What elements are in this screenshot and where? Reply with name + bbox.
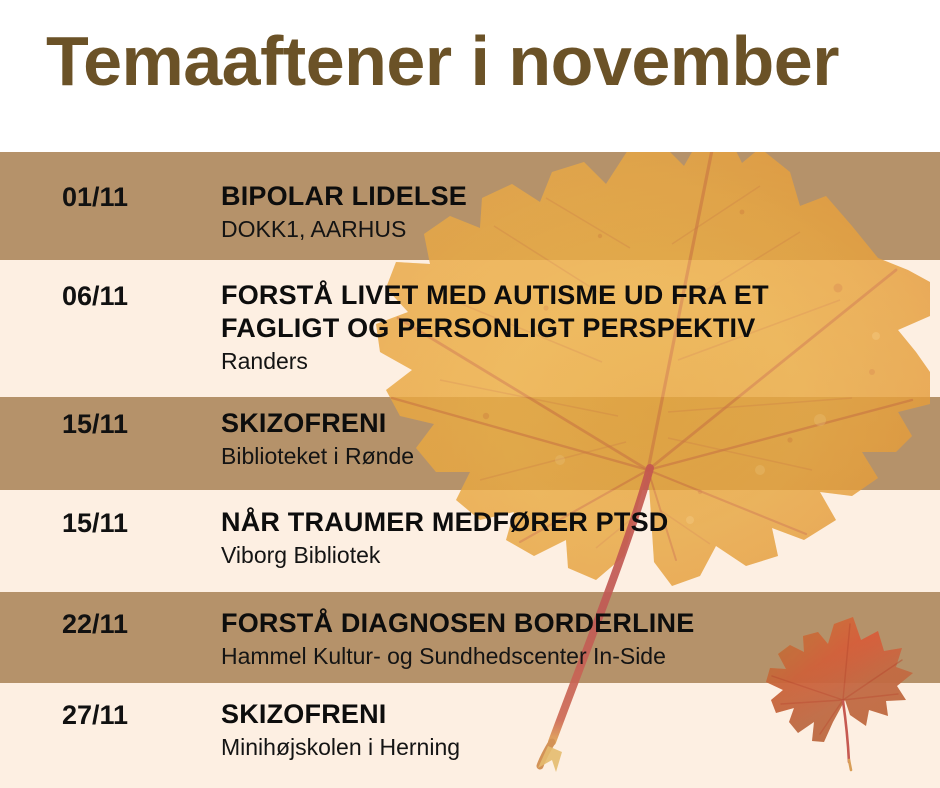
event-date: 01/11 bbox=[62, 182, 128, 213]
poster-header: Temaaftener i november bbox=[0, 0, 940, 152]
event-body: NÅR TRAUMER MEDFØRER PTSD Viborg Bibliot… bbox=[221, 506, 930, 570]
page-title: Temaaftener i november bbox=[46, 26, 839, 96]
event-title: FORSTÅ LIVET MED AUTISME UD FRA ET FAGLI… bbox=[221, 279, 930, 345]
event-body: FORSTÅ DIAGNOSEN BORDERLINE Hammel Kultu… bbox=[221, 607, 930, 671]
event-date: 27/11 bbox=[62, 700, 128, 731]
event-venue: DOKK1, AARHUS bbox=[221, 216, 930, 244]
event-title: SKIZOFRENI bbox=[221, 698, 930, 731]
event-body: SKIZOFRENI Biblioteket i Rønde bbox=[221, 407, 930, 471]
event-date: 15/11 bbox=[62, 409, 128, 440]
event-venue: Randers bbox=[221, 348, 930, 376]
event-body: BIPOLAR LIDELSE DOKK1, AARHUS bbox=[221, 180, 930, 244]
event-title: NÅR TRAUMER MEDFØRER PTSD bbox=[221, 506, 930, 539]
event-date: 22/11 bbox=[62, 609, 128, 640]
event-venue: Hammel Kultur- og Sundhedscenter In-Side bbox=[221, 643, 930, 671]
event-body: SKIZOFRENI Minihøjskolen i Herning bbox=[221, 698, 930, 762]
event-date: 06/11 bbox=[62, 281, 128, 312]
event-venue: Viborg Bibliotek bbox=[221, 542, 930, 570]
event-body: FORSTÅ LIVET MED AUTISME UD FRA ET FAGLI… bbox=[221, 279, 930, 375]
event-title: BIPOLAR LIDELSE bbox=[221, 180, 930, 213]
event-date: 15/11 bbox=[62, 508, 128, 539]
event-venue: Minihøjskolen i Herning bbox=[221, 734, 930, 762]
event-title: FORSTÅ DIAGNOSEN BORDERLINE bbox=[221, 607, 930, 640]
event-title: SKIZOFRENI bbox=[221, 407, 930, 440]
poster-root: Temaaftener i november 01/11 BIPOLAR LID… bbox=[0, 0, 940, 788]
event-venue: Biblioteket i Rønde bbox=[221, 443, 930, 471]
